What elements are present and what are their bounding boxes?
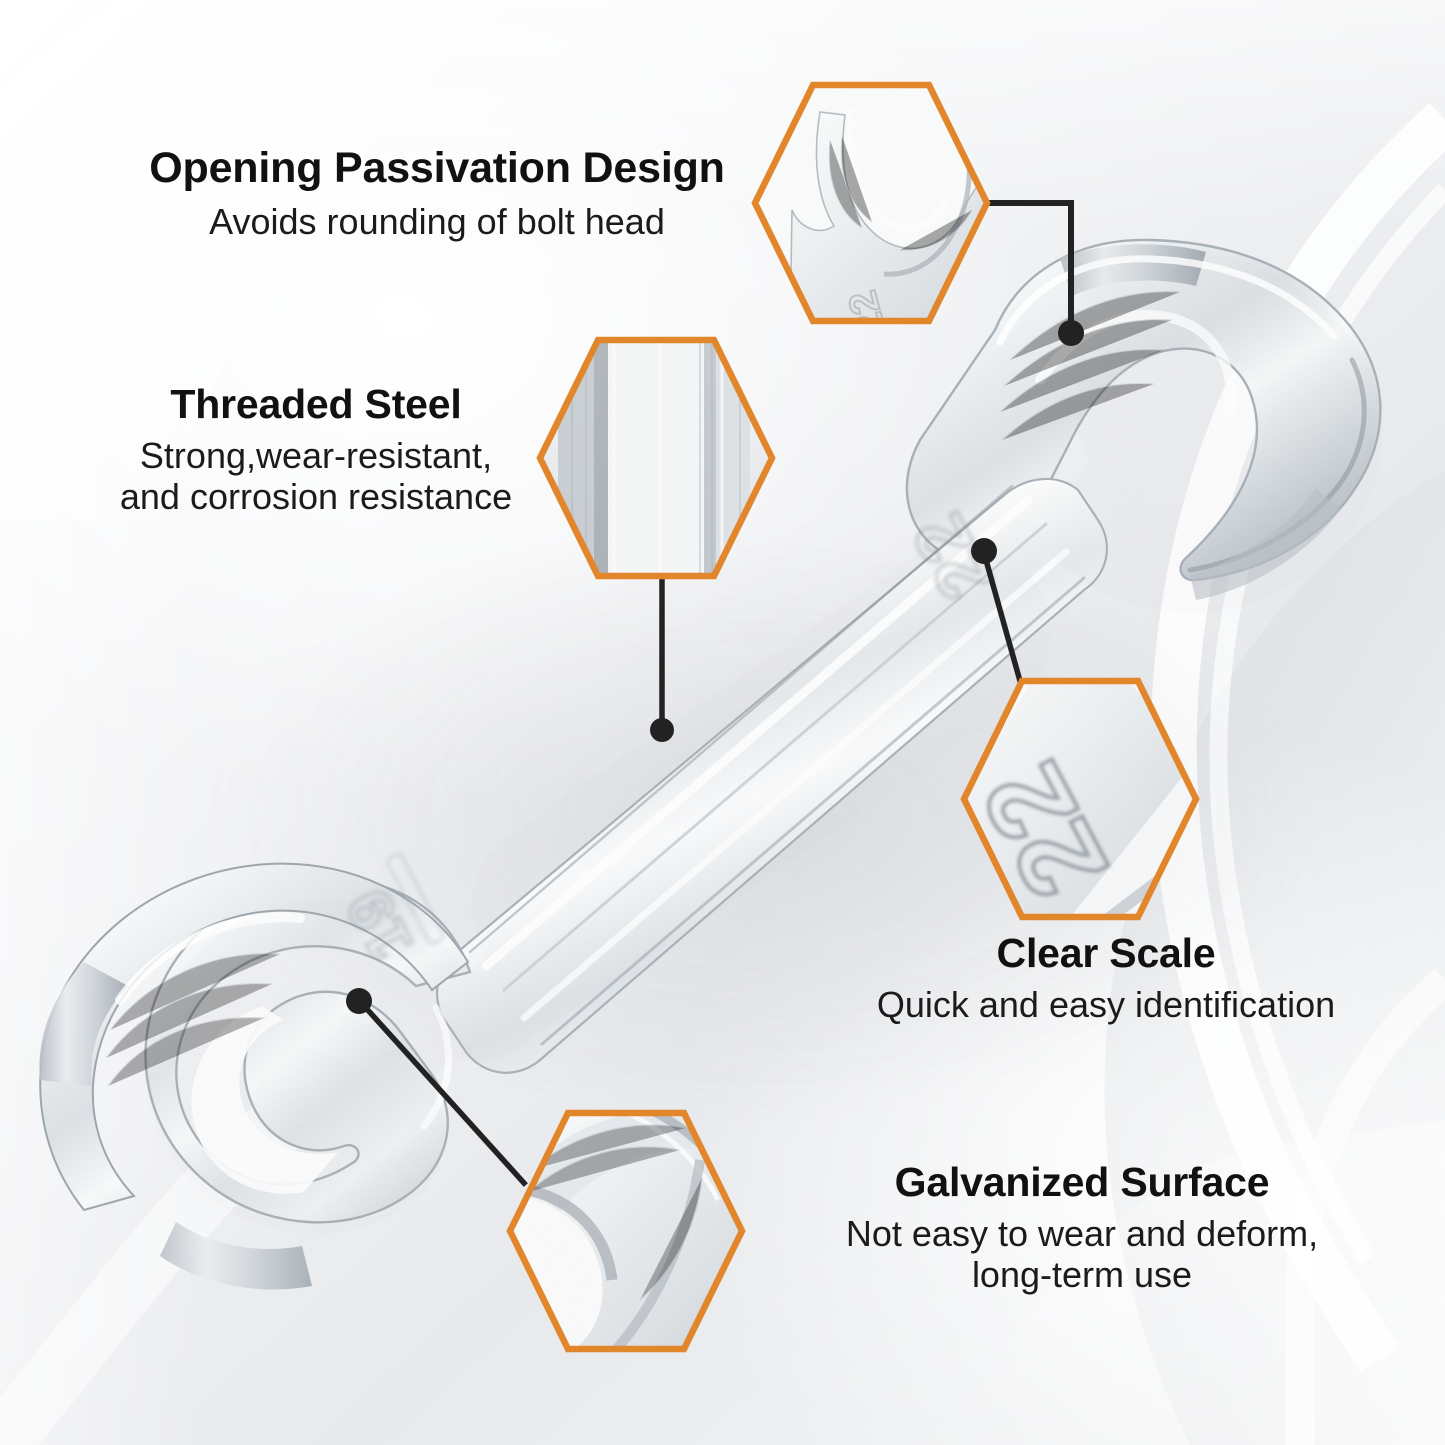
hex-callout-galvanized-surface bbox=[510, 1104, 760, 1360]
callout-subtitle-threaded-steel-line-0: Strong,wear-resistant, bbox=[70, 435, 562, 476]
connector-opening-passivation bbox=[987, 203, 1084, 346]
callout-subtitle-clear-scale-line-0: Quick and easy identification bbox=[836, 984, 1376, 1025]
callout-title-threaded-steel: Threaded Steel bbox=[70, 383, 562, 426]
callout-subtitle-opening-passivation-line-0: Avoids rounding of bolt head bbox=[104, 201, 770, 242]
callout-subtitle-galvanized-surface-line-1: long-term use bbox=[784, 1254, 1380, 1295]
hex-callout-clear-scale: 22 bbox=[957, 671, 1196, 940]
callout-title-galvanized-surface: Galvanized Surface bbox=[784, 1161, 1380, 1204]
callout-text-opening-passivation: Opening Passivation Design Avoids roundi… bbox=[104, 146, 770, 242]
callout-subtitle-threaded-steel-line-1: and corrosion resistance bbox=[70, 476, 562, 517]
callout-title-opening-passivation: Opening Passivation Design bbox=[104, 146, 770, 192]
callout-subtitle-galvanized-surface-line-0: Not easy to wear and deform, bbox=[784, 1213, 1380, 1254]
callout-text-threaded-steel: Threaded Steel Strong,wear-resistant, an… bbox=[70, 383, 562, 518]
callout-text-galvanized-surface: Galvanized Surface Not easy to wear and … bbox=[784, 1161, 1380, 1296]
hex-callout-threaded-steel bbox=[540, 330, 772, 590]
hex-callout-opening-passivation: 22 bbox=[755, 85, 1010, 341]
connector-clear-scale bbox=[971, 538, 1020, 681]
connector-galvanized-surface bbox=[346, 988, 524, 1183]
callout-title-clear-scale: Clear Scale bbox=[836, 932, 1376, 975]
infographic-canvas: 22 19 bbox=[0, 0, 1445, 1445]
callout-text-clear-scale: Clear Scale Quick and easy identificatio… bbox=[836, 932, 1376, 1025]
connector-threaded-steel bbox=[650, 576, 674, 742]
